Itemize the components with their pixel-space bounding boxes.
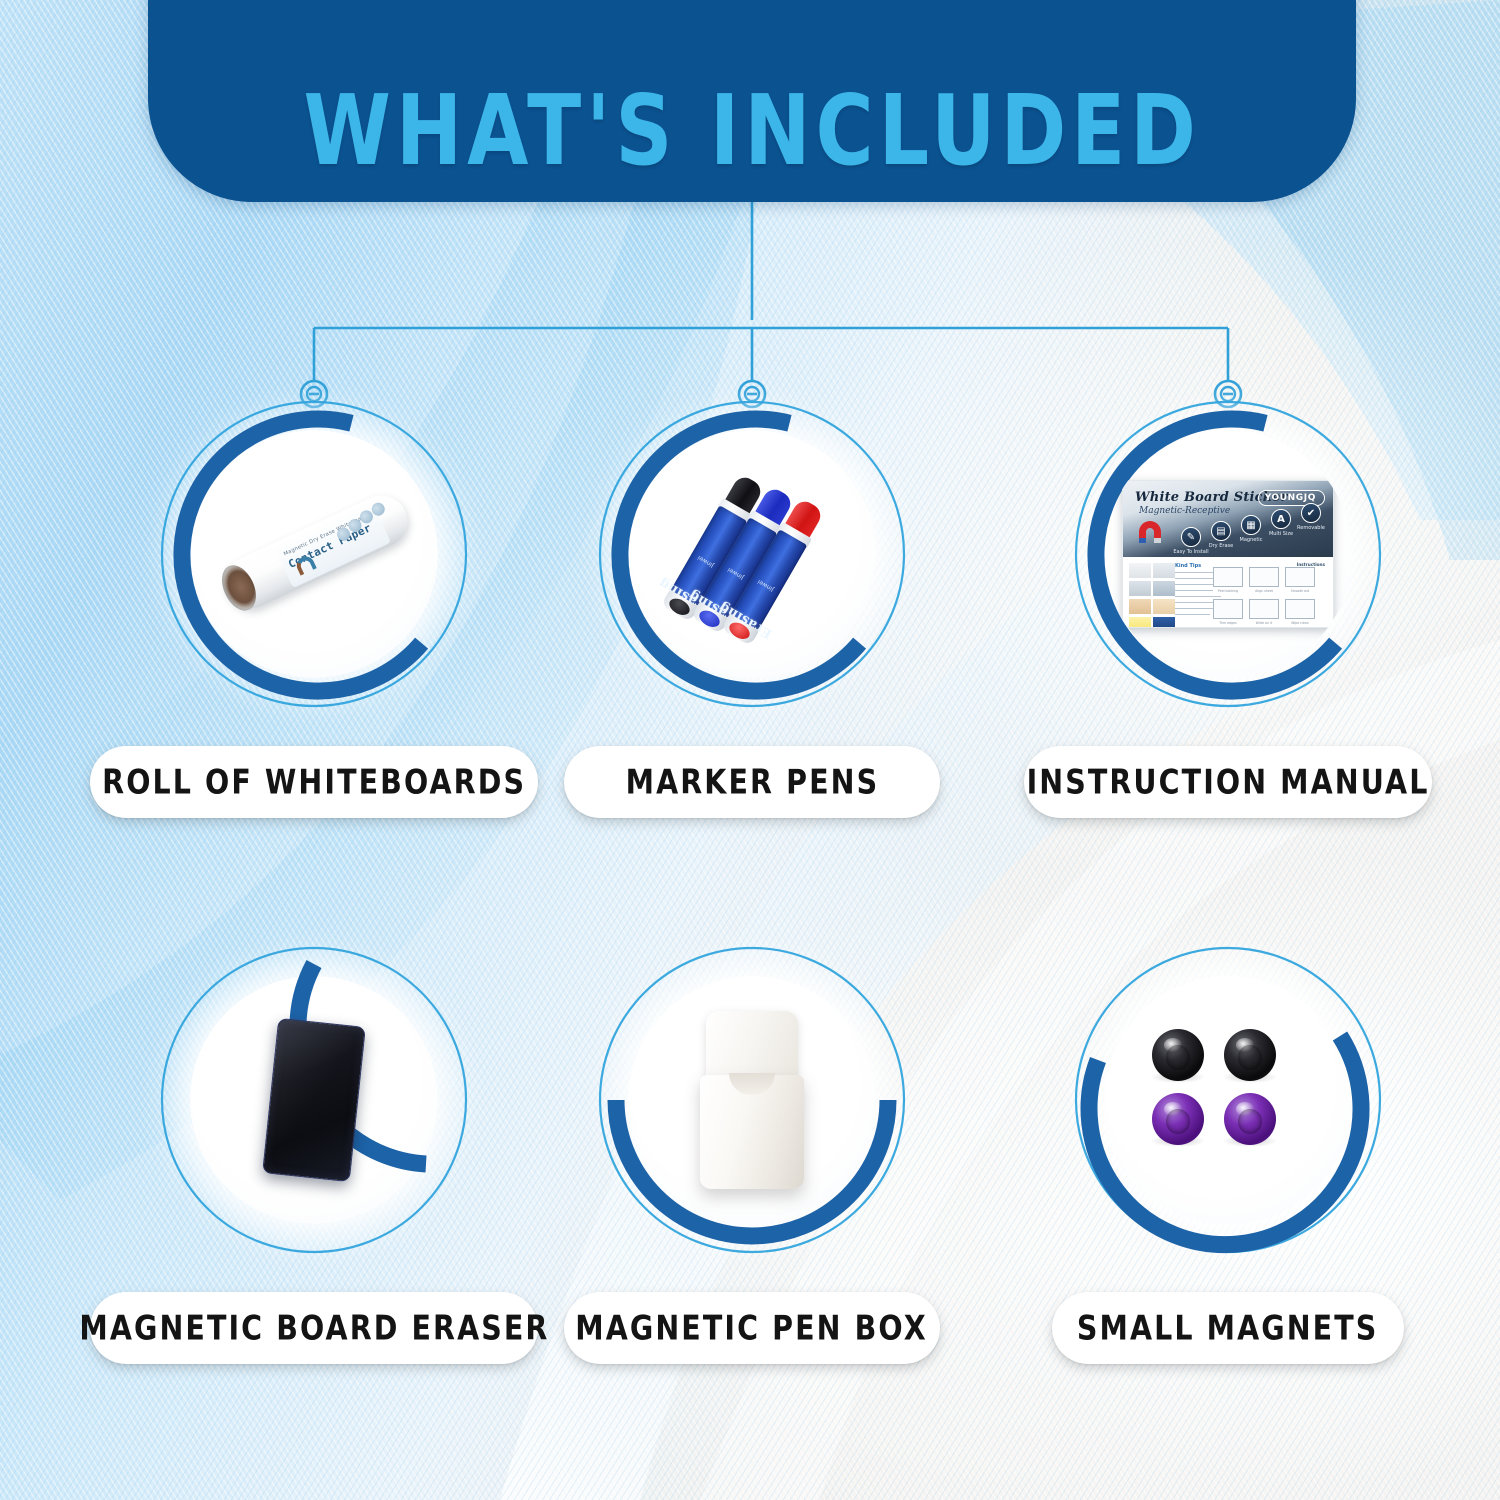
item-label: ROLL OF WHITEBOARDS	[102, 762, 526, 802]
label-pill[interactable]: ROLL OF WHITEBOARDS	[90, 746, 538, 818]
badge-artwork	[190, 976, 438, 1224]
item-label: MARKER PENS	[625, 762, 879, 802]
label-pill[interactable]: INSTRUCTION MANUAL	[1024, 746, 1432, 818]
item-label: MAGNETIC PEN BOX	[576, 1308, 928, 1348]
item-label: MAGNETIC BOARD ERASER	[79, 1308, 549, 1348]
badge-circle: Jinwei Erasing It's Ok Jinwei Erasi	[592, 394, 912, 714]
infographic-canvas: WHAT'S INCLUDED Magnetic Dry Erase White…	[0, 0, 1500, 1500]
badge-artwork	[1104, 976, 1352, 1224]
manual-subtitle: Magnetic-Receptive	[1139, 506, 1230, 516]
item-label: INSTRUCTION MANUAL	[1027, 762, 1430, 802]
badge-circle	[154, 940, 474, 1260]
badge-circle	[592, 940, 912, 1260]
magnets-icon	[1128, 1025, 1328, 1175]
badge-circle	[1068, 940, 1388, 1260]
label-pill[interactable]: MAGNETIC BOARD ERASER	[90, 1292, 538, 1364]
badge-artwork: White Board Sticker Magnetic-Receptive Y…	[1104, 430, 1352, 678]
pen-box-icon	[700, 1011, 804, 1189]
marker-pens-icon: Jinwei Erasing It's Ok Jinwei Erasi	[628, 430, 876, 678]
badge-artwork: Jinwei Erasing It's Ok Jinwei Erasi	[628, 430, 876, 678]
badge-circle: Magnetic Dry Erase Whiteboard & Contact …	[154, 394, 474, 714]
item-label: SMALL MAGNETS	[1077, 1308, 1378, 1348]
badge-circle: White Board Sticker Magnetic-Receptive Y…	[1068, 394, 1388, 714]
badge-artwork	[628, 976, 876, 1224]
header-banner: WHAT'S INCLUDED	[148, 0, 1356, 202]
label-pill[interactable]: SMALL MAGNETS	[1052, 1292, 1404, 1364]
manual-sheet-icon: White Board Sticker Magnetic-Receptive Y…	[1122, 480, 1334, 628]
paper-roll-icon: Magnetic Dry Erase Whiteboard & Contact …	[190, 430, 438, 678]
eraser-icon	[262, 1018, 366, 1182]
badge-artwork: Magnetic Dry Erase Whiteboard & Contact …	[190, 430, 438, 678]
manual-tips-heading: Kind Tips	[1175, 563, 1201, 569]
page-title: WHAT'S INCLUDED	[303, 82, 1200, 180]
label-pill[interactable]: MARKER PENS	[564, 746, 940, 818]
horseshoe-magnet-icon	[1135, 521, 1165, 543]
items-grid: Magnetic Dry Erase Whiteboard & Contact …	[0, 0, 1500, 1500]
label-pill[interactable]: MAGNETIC PEN BOX	[564, 1292, 940, 1364]
